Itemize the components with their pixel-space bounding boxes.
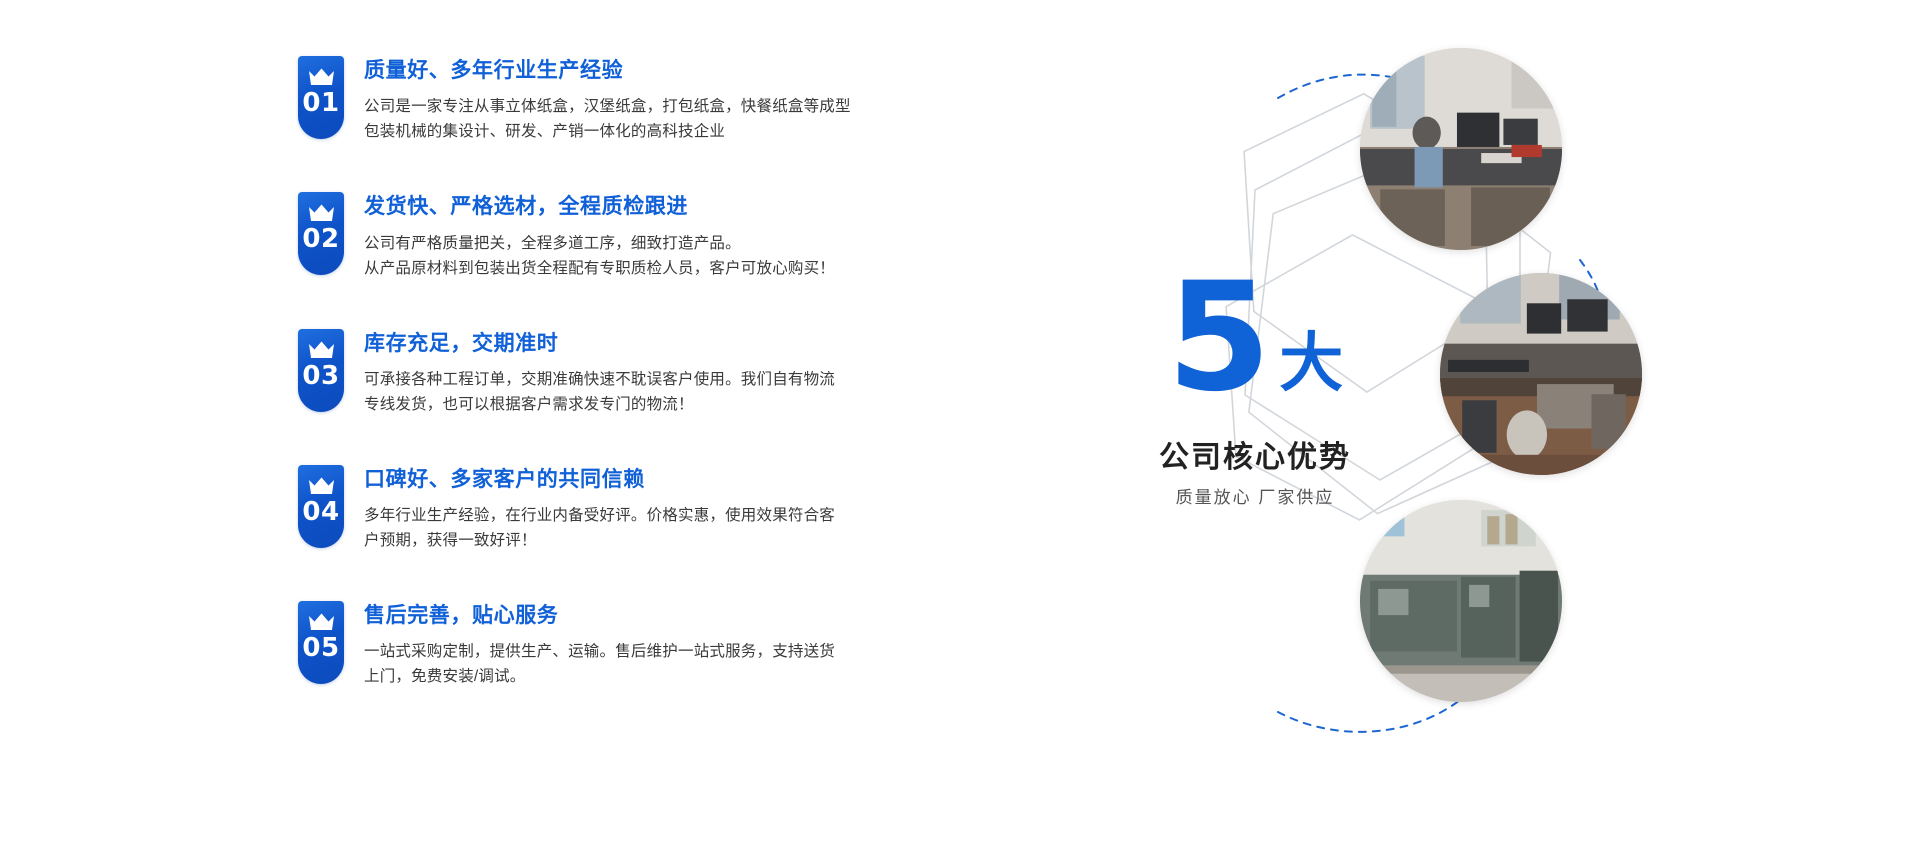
photo-office-workstation — [1360, 48, 1562, 250]
feature-body-line: 公司是一家专注从事立体纸盒，汉堡纸盒，打包纸盒，快餐纸盒等成型 — [364, 94, 851, 119]
feature-body-line: 可承接各种工程订单，交期准确快速不耽误客户使用。我们自有物流 — [364, 367, 835, 392]
photo-packaging-machine-image — [1360, 500, 1562, 702]
rank-number: 04 — [302, 499, 339, 525]
infographic-canvas: 01 质量好、多年行业生产经验 公司是一家专注从事立体纸盒，汉堡纸盒，打包纸盒，… — [0, 0, 1920, 847]
feature-item-03: 03 库存充足，交期准时 可承接各种工程订单，交期准确快速不耽误客户使用。我们自… — [298, 329, 958, 417]
dashed-arc-bottom — [1278, 700, 1460, 732]
photo-office-workstation-image — [1360, 48, 1562, 250]
crown-icon — [308, 203, 335, 222]
feature-body-line: 一站式采购定制，提供生产、运输。售后维护一站式服务，支持送货 — [364, 639, 835, 664]
feature-text-05: 售后完善，贴心服务 一站式采购定制，提供生产、运输。售后维护一站式服务，支持送货… — [364, 601, 835, 689]
rank-number: 03 — [302, 363, 339, 389]
feature-text-04: 口碑好、多家客户的共同信赖 多年行业生产经验，在行业内备受好评。价格实惠，使用效… — [364, 465, 835, 553]
feature-text-03: 库存充足，交期准时 可承接各种工程订单，交期准确快速不耽误客户使用。我们自有物流… — [364, 329, 835, 417]
photo-packaging-machine — [1360, 500, 1562, 702]
feature-text-02: 发货快、严格选材，全程质检跟进 公司有严格质量把关，全程多道工序，细致打造产品。… — [364, 192, 835, 280]
feature-item-05: 05 售后完善，贴心服务 一站式采购定制，提供生产、运输。售后维护一站式服务，支… — [298, 601, 958, 689]
photo-office-desks — [1440, 273, 1642, 475]
feature-item-02: 02 发货快、严格选材，全程质检跟进 公司有严格质量把关，全程多道工序，细致打造… — [298, 192, 958, 280]
feature-title: 售后完善，贴心服务 — [364, 603, 835, 629]
rank-number: 05 — [302, 635, 339, 661]
crown-icon — [308, 67, 335, 86]
feature-title: 质量好、多年行业生产经验 — [364, 58, 851, 84]
rank-badge-05: 05 — [298, 601, 344, 684]
feature-body-line: 多年行业生产经验，在行业内备受好评。价格实惠，使用效果符合客 — [364, 503, 835, 528]
feature-body-line: 专线发货，也可以根据客户需求发专门的物流！ — [364, 392, 835, 417]
feature-body-line: 包装机械的集设计、研发、产销一体化的高科技企业 — [364, 119, 851, 144]
feature-item-01: 01 质量好、多年行业生产经验 公司是一家专注从事立体纸盒，汉堡纸盒，打包纸盒，… — [298, 56, 958, 144]
feature-text-01: 质量好、多年行业生产经验 公司是一家专注从事立体纸盒，汉堡纸盒，打包纸盒，快餐纸… — [364, 56, 851, 144]
feature-body-line: 从产品原材料到包装出货全程配有专职质检人员，客户可放心购买！ — [364, 256, 835, 281]
feature-item-04: 04 口碑好、多家客户的共同信赖 多年行业生产经验，在行业内备受好评。价格实惠，… — [298, 465, 958, 553]
rank-badge-03: 03 — [298, 329, 344, 412]
photo-office-desks-image — [1440, 273, 1642, 475]
feature-body-line: 上门，免费安装/调试。 — [364, 664, 835, 689]
feature-title: 发货快、严格选材，全程质检跟进 — [364, 194, 835, 220]
rank-number: 01 — [302, 90, 339, 116]
rank-badge-04: 04 — [298, 465, 344, 548]
rank-badge-02: 02 — [298, 192, 344, 275]
feature-body-line: 户预期，获得一致好评！ — [364, 528, 835, 553]
rank-badge-01: 01 — [298, 56, 344, 139]
crown-icon — [308, 340, 335, 359]
feature-title: 口碑好、多家客户的共同信赖 — [364, 467, 835, 493]
rank-number: 02 — [302, 226, 339, 252]
crown-icon — [308, 476, 335, 495]
feature-title: 库存充足，交期准时 — [364, 331, 835, 357]
feature-body-line: 公司有严格质量把关，全程多道工序，细致打造产品。 — [364, 231, 835, 256]
hexagon-graphic: 5 大 公司核心优势 质量放心 厂家供应 — [960, 0, 1920, 847]
crown-icon — [308, 612, 335, 631]
features-list: 01 质量好、多年行业生产经验 公司是一家专注从事立体纸盒，汉堡纸盒，打包纸盒，… — [298, 56, 958, 689]
